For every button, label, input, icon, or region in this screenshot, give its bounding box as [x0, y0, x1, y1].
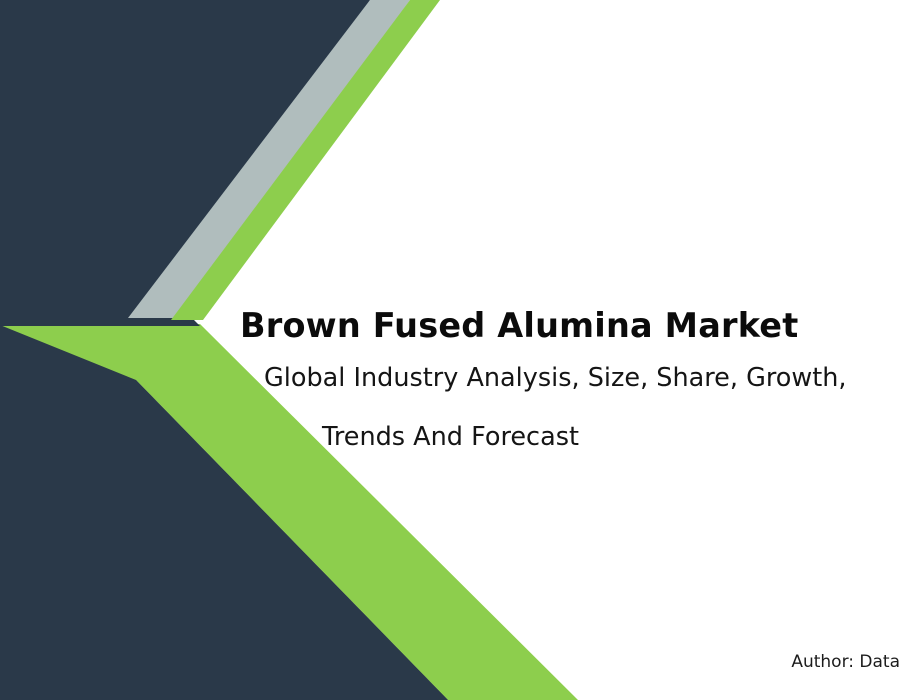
- subtitle-line-2: Trends And Forecast: [322, 425, 900, 451]
- author-credit: Author: Data: [700, 652, 900, 672]
- title-block: Brown Fused Alumina Market: [240, 306, 880, 346]
- page-title: Brown Fused Alumina Market: [240, 306, 880, 346]
- subtitle-block: Global Industry Analysis, Size, Share, G…: [264, 366, 900, 450]
- cover-slide: Brown Fused Alumina Market Global Indust…: [0, 0, 900, 700]
- subtitle-line-1: Global Industry Analysis, Size, Share, G…: [264, 366, 900, 392]
- text-layer: Brown Fused Alumina Market Global Indust…: [0, 0, 900, 700]
